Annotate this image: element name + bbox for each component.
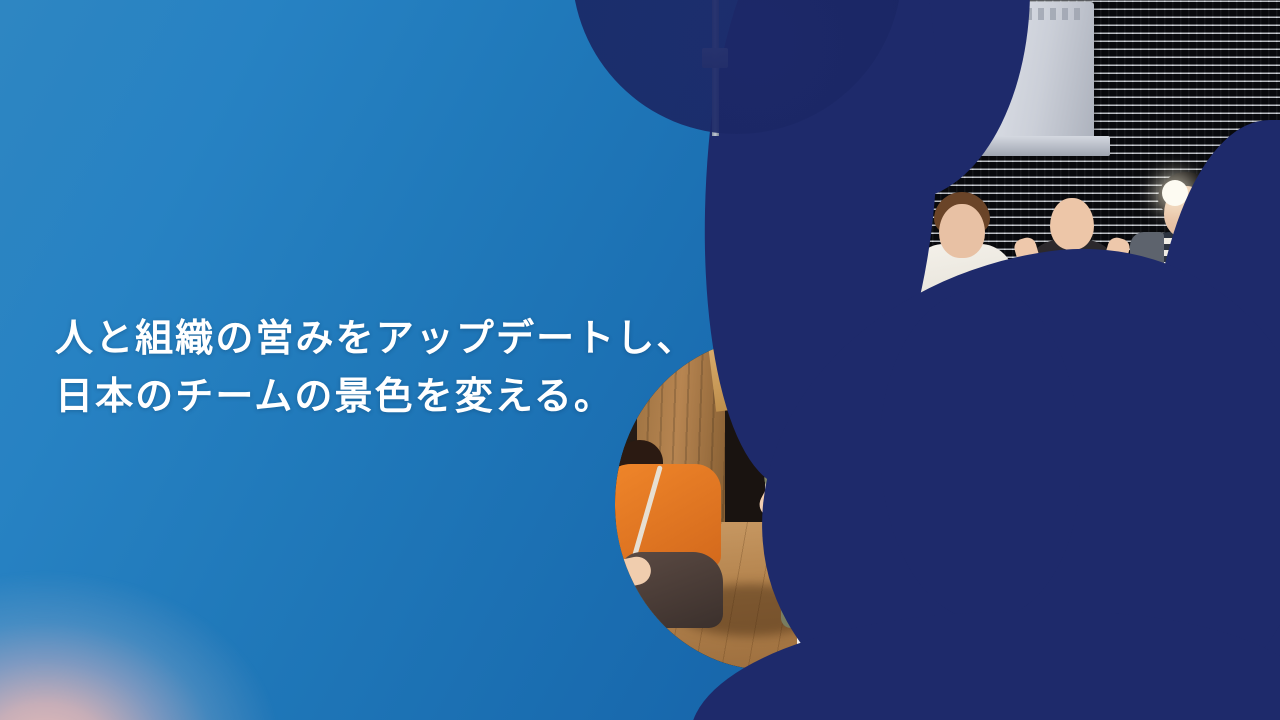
headline-line-2: 日本のチームの景色を変える。 xyxy=(55,369,696,427)
navy-blob-notch xyxy=(880,290,1080,620)
person-orange-jumper xyxy=(615,446,725,628)
hero-banner: 人と組織の営みをアップデートし、 日本のチームの景色を変える。 xyxy=(0,0,1280,720)
page-title: 人と組織の営みをアップデートし、 日本のチームの景色を変える。 xyxy=(55,311,696,427)
headline-line-1: 人と組織の営みをアップデートし、 xyxy=(55,318,696,360)
